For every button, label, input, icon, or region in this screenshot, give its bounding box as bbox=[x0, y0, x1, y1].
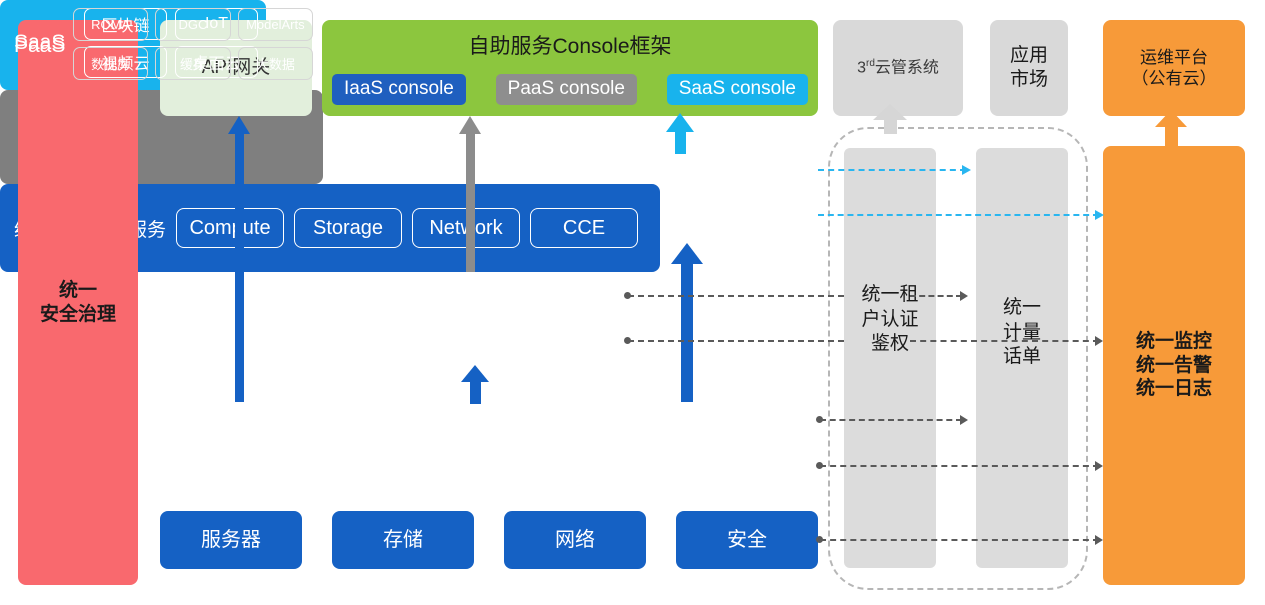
resource-label-server: 服务器 bbox=[201, 528, 261, 553]
unified-monitoring-panel: 统一监控 统一告警 统一日志 bbox=[1103, 146, 1245, 585]
saas-console-badge[interactable]: SaaS console bbox=[667, 74, 808, 105]
paas-service-bigdata[interactable]: 大数据 bbox=[238, 47, 313, 80]
security-governance-panel: 统一 安全治理 bbox=[18, 20, 138, 585]
paas-service-roma[interactable]: ROMA bbox=[73, 8, 148, 41]
unified-metering-column: 统一 计量 话单 bbox=[976, 148, 1068, 568]
paas-console-badge[interactable]: PaaS console bbox=[496, 74, 637, 105]
app-market-label: 应用 市场 bbox=[1010, 44, 1048, 92]
third-cloud-superscript: rd bbox=[866, 58, 875, 69]
app-market-box: 应用 市场 bbox=[990, 20, 1068, 116]
resource-box-storage[interactable]: 存储 bbox=[332, 511, 474, 569]
infrastructure-service-group: Compute Storage Network CCE bbox=[176, 208, 638, 248]
console-framework-title: 自助服务Console框架 bbox=[322, 34, 818, 60]
console-badge-group: IaaS console PaaS console SaaS console bbox=[332, 74, 808, 105]
third-cloud-prefix: 3 bbox=[857, 59, 866, 76]
paas-service-cache[interactable]: 缓存 bbox=[155, 47, 230, 80]
paas-service-modelarts[interactable]: ModelArts bbox=[238, 8, 313, 41]
ops-platform-public-cloud-box: 运维平台 （公有云） bbox=[1103, 20, 1245, 116]
resource-label-storage: 存储 bbox=[383, 528, 423, 553]
infra-service-storage[interactable]: Storage bbox=[294, 208, 402, 248]
third-cloud-label: 云管系统 bbox=[875, 59, 939, 76]
resource-label-security: 安全 bbox=[727, 528, 767, 553]
resource-box-security[interactable]: 安全 bbox=[676, 511, 818, 569]
infra-service-compute[interactable]: Compute bbox=[176, 208, 284, 248]
unified-monitoring-label: 统一监控 统一告警 统一日志 bbox=[1136, 330, 1212, 401]
paas-service-dgc[interactable]: DGC bbox=[155, 8, 230, 41]
infra-service-cce[interactable]: CCE bbox=[530, 208, 638, 248]
unified-metering-label: 统一 计量 话单 bbox=[976, 296, 1068, 370]
paas-service-grid: ROMA DGC ModelArts 数据库 缓存 大数据 bbox=[73, 8, 313, 80]
paas-label: PaaS bbox=[14, 34, 65, 58]
paas-service-database[interactable]: 数据库 bbox=[73, 47, 148, 80]
resource-label-network: 网络 bbox=[555, 528, 595, 553]
security-governance-label: 统一 安全治理 bbox=[40, 279, 116, 327]
ops-platform-label: 运维平台 （公有云） bbox=[1132, 47, 1217, 90]
architecture-diagram: 统一 安全治理 API网关 自助服务Console框架 IaaS console… bbox=[0, 0, 1265, 605]
console-framework-box: 自助服务Console框架 IaaS console PaaS console … bbox=[322, 20, 818, 116]
resource-box-network[interactable]: 网络 bbox=[504, 511, 646, 569]
unified-tenant-auth-column: 统一租 户认证 鉴权 bbox=[844, 148, 936, 568]
resource-box-server[interactable]: 服务器 bbox=[160, 511, 302, 569]
iaas-console-badge[interactable]: IaaS console bbox=[332, 74, 466, 105]
third-party-cloud-mgmt-box: 3rd云管系统 bbox=[833, 20, 963, 116]
